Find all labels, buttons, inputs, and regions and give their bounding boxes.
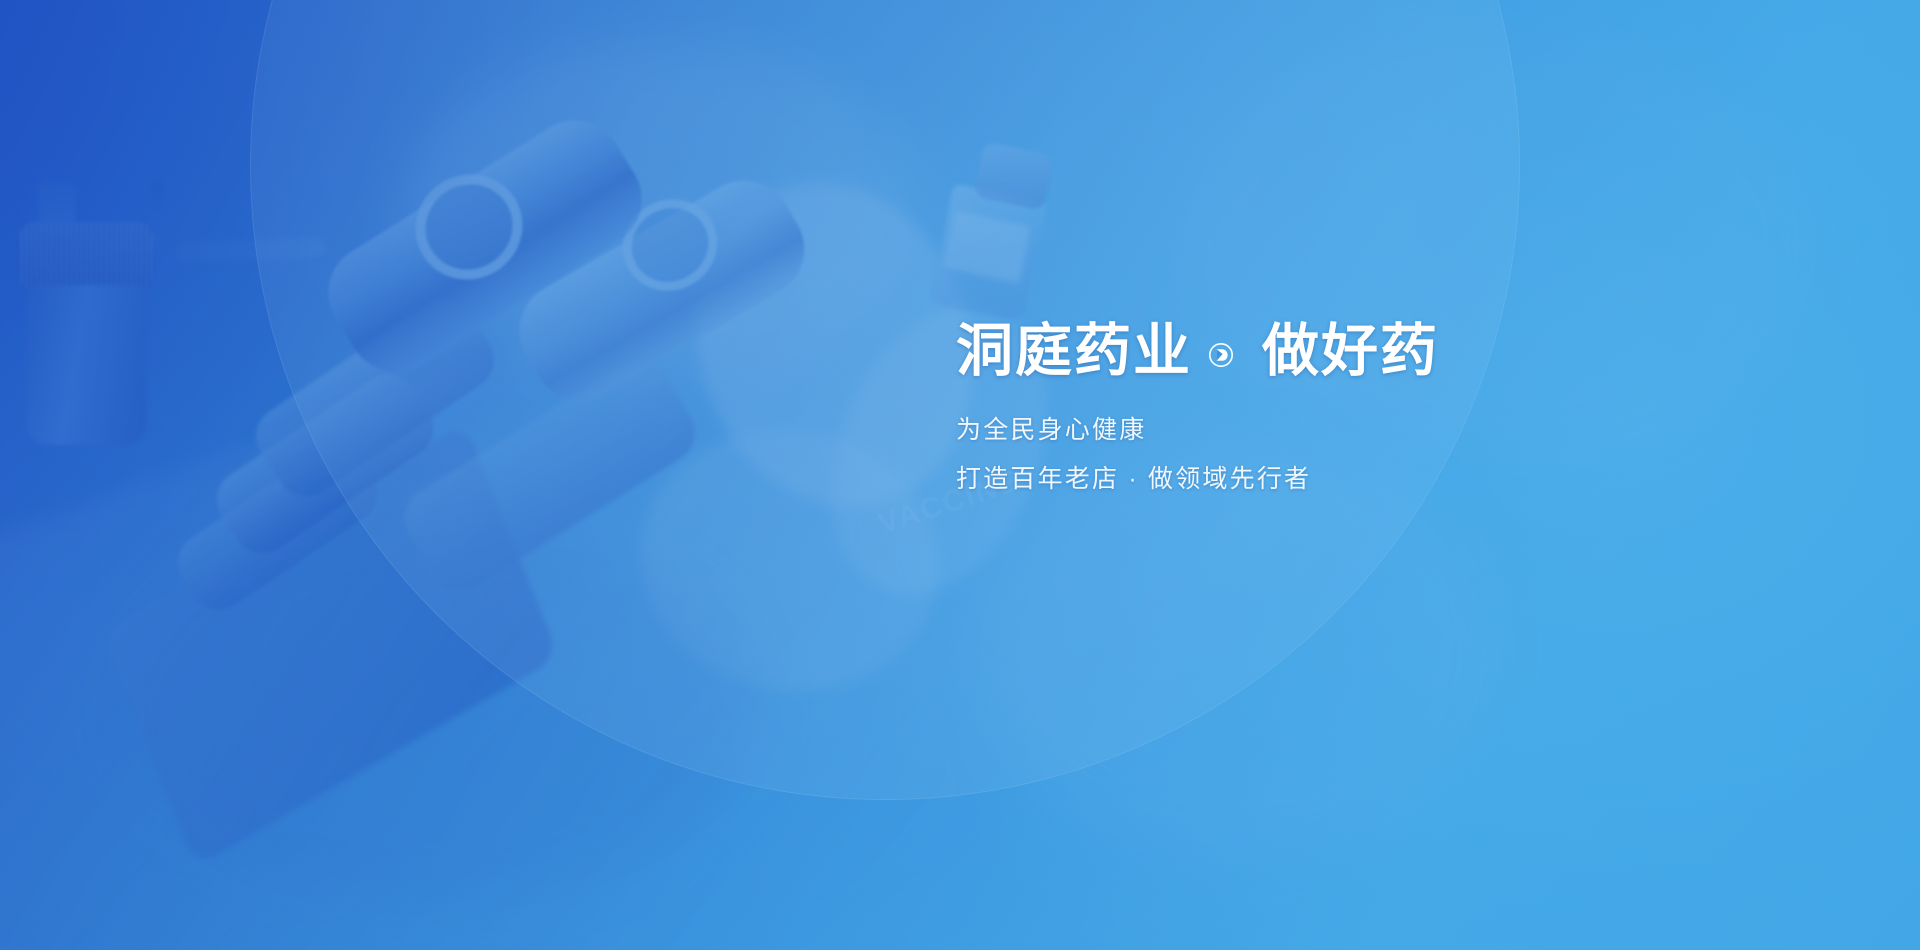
- hero-subtitle-line-2: 打造百年老店 · 做领域先行者: [956, 467, 1776, 492]
- hero-banner: VACCINE 洞庭药业 做好药 为全民身心健康 打造百年老店 · 做领域先行者: [0, 0, 1920, 950]
- hero-copy: 洞庭药业 做好药 为全民身心健康 打造百年老店 · 做领域先行者: [956, 322, 1776, 492]
- hero-headline: 洞庭药业 做好药: [956, 322, 1776, 382]
- headline-slogan-text: 做好药: [1262, 322, 1439, 382]
- headline-brand-text: 洞庭药业: [956, 322, 1192, 382]
- dongting-circle-logo-icon: [1208, 342, 1234, 368]
- hero-subtitle-line-1: 为全民身心健康: [956, 418, 1776, 443]
